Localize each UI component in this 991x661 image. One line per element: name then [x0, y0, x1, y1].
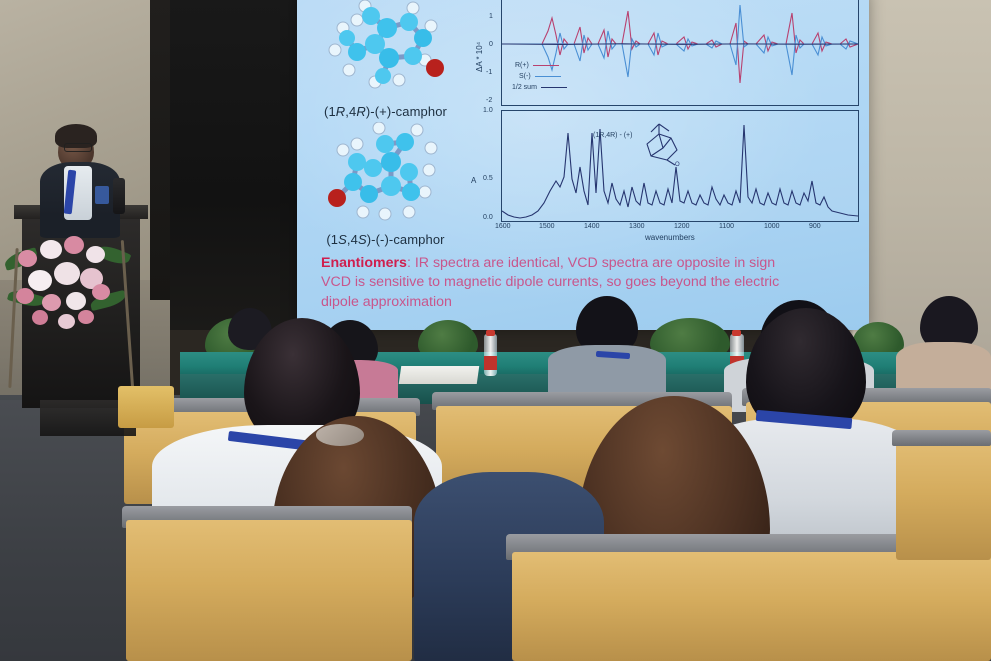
vcd-ytick-0: 0 [489, 41, 493, 48]
bench-top-side-right [892, 430, 991, 446]
flower [92, 284, 110, 300]
ir-y-axis-label: A [471, 176, 476, 185]
bottle-label-left [484, 356, 497, 370]
speaker-glasses [64, 143, 92, 152]
enantiomers-lead: Enantiomers [321, 255, 407, 271]
molecule-column: (1R,4R)-(+)-camphor [303, 0, 468, 242]
molecule-s-label: (1S,4S)-(-)-camphor [303, 232, 468, 247]
bench-back-side-right [896, 440, 991, 560]
vcd-legend-entry-0: R(+) [515, 62, 559, 69]
flower [28, 270, 52, 291]
vcd-legend-entry-1: S(-) [519, 73, 561, 80]
molecule-r-label: (1R,4R)-(+)-camphor [303, 104, 468, 119]
flower [18, 250, 37, 267]
flower [64, 236, 84, 254]
vcd-ytick-m2: -2 [486, 97, 492, 104]
slide-line3: dipole approximation [321, 294, 452, 310]
camphor-S-structure [313, 122, 463, 232]
ir-xtick-1200: 1200 [674, 223, 690, 230]
ir-xtick-1600: 1600 [495, 223, 511, 230]
hair-tie-accessory [316, 424, 364, 446]
bottle-cap-right [732, 330, 741, 336]
camphor-skeletal-structure: O [633, 120, 691, 166]
bottle-cap-left [486, 330, 495, 336]
oxygen-atom [426, 59, 444, 77]
ir-ytick-10: 1.0 [483, 107, 493, 114]
ir-x-axis-label: wavenumbers [645, 233, 695, 242]
ir-ytick-05: 0.5 [483, 175, 493, 182]
vcd-ytick-1: 1 [489, 13, 493, 20]
bench-back-front-right [512, 552, 991, 661]
papers-on-desk [399, 366, 480, 384]
legend-label-R: R(+) [515, 62, 529, 69]
svg-text:O: O [675, 162, 680, 166]
legend-swatch-S [535, 76, 561, 77]
flower [78, 310, 94, 324]
ir-xtick-1100: 1100 [719, 223, 734, 230]
ir-xtick-900: 900 [809, 223, 821, 230]
flower [16, 288, 34, 304]
speaker-badge [95, 186, 109, 204]
slide-line2: VCD is sensitive to magnetic dipole curr… [321, 274, 779, 290]
flower [54, 262, 80, 285]
slide-line1: : IR spectra are identical, VCD spectra … [407, 255, 775, 271]
ir-ytick-00: 0.0 [483, 214, 493, 221]
lecture-hall-photo: (1R,4R)-(+)-camphor [0, 0, 991, 661]
bench-back-front-left [126, 520, 412, 661]
vcd-legend-entry-2: 1/2 sum [512, 84, 567, 91]
oxygen-atom [328, 189, 346, 207]
legend-swatch-halfsum [541, 87, 567, 88]
microphone[interactable] [113, 178, 125, 214]
legend-label-halfsum: 1/2 sum [512, 84, 537, 91]
flower [42, 294, 61, 311]
ir-xtick-1400: 1400 [584, 223, 600, 230]
ir-annotation: (1R,4R) - (+) [593, 132, 632, 139]
equipment-box [118, 386, 174, 428]
flower [58, 314, 75, 329]
ir-xtick-1500: 1500 [539, 223, 555, 230]
flower [86, 246, 105, 263]
ir-xtick-1300: 1300 [629, 223, 645, 230]
legend-label-S: S(-) [519, 73, 531, 80]
ir-xtick-1000: 1000 [764, 223, 780, 230]
legend-swatch-R [533, 65, 559, 66]
vcd-ytick-m1: -1 [486, 69, 492, 76]
flower [66, 292, 86, 310]
vcd-y-axis-label: ΔA * 10⁴ [475, 42, 484, 72]
flower [32, 310, 48, 325]
camphor-R-structure [313, 0, 463, 103]
projection-screen-slide: (1R,4R)-(+)-camphor [297, 0, 869, 330]
flower [40, 240, 62, 259]
flower-arrangement [2, 222, 132, 332]
